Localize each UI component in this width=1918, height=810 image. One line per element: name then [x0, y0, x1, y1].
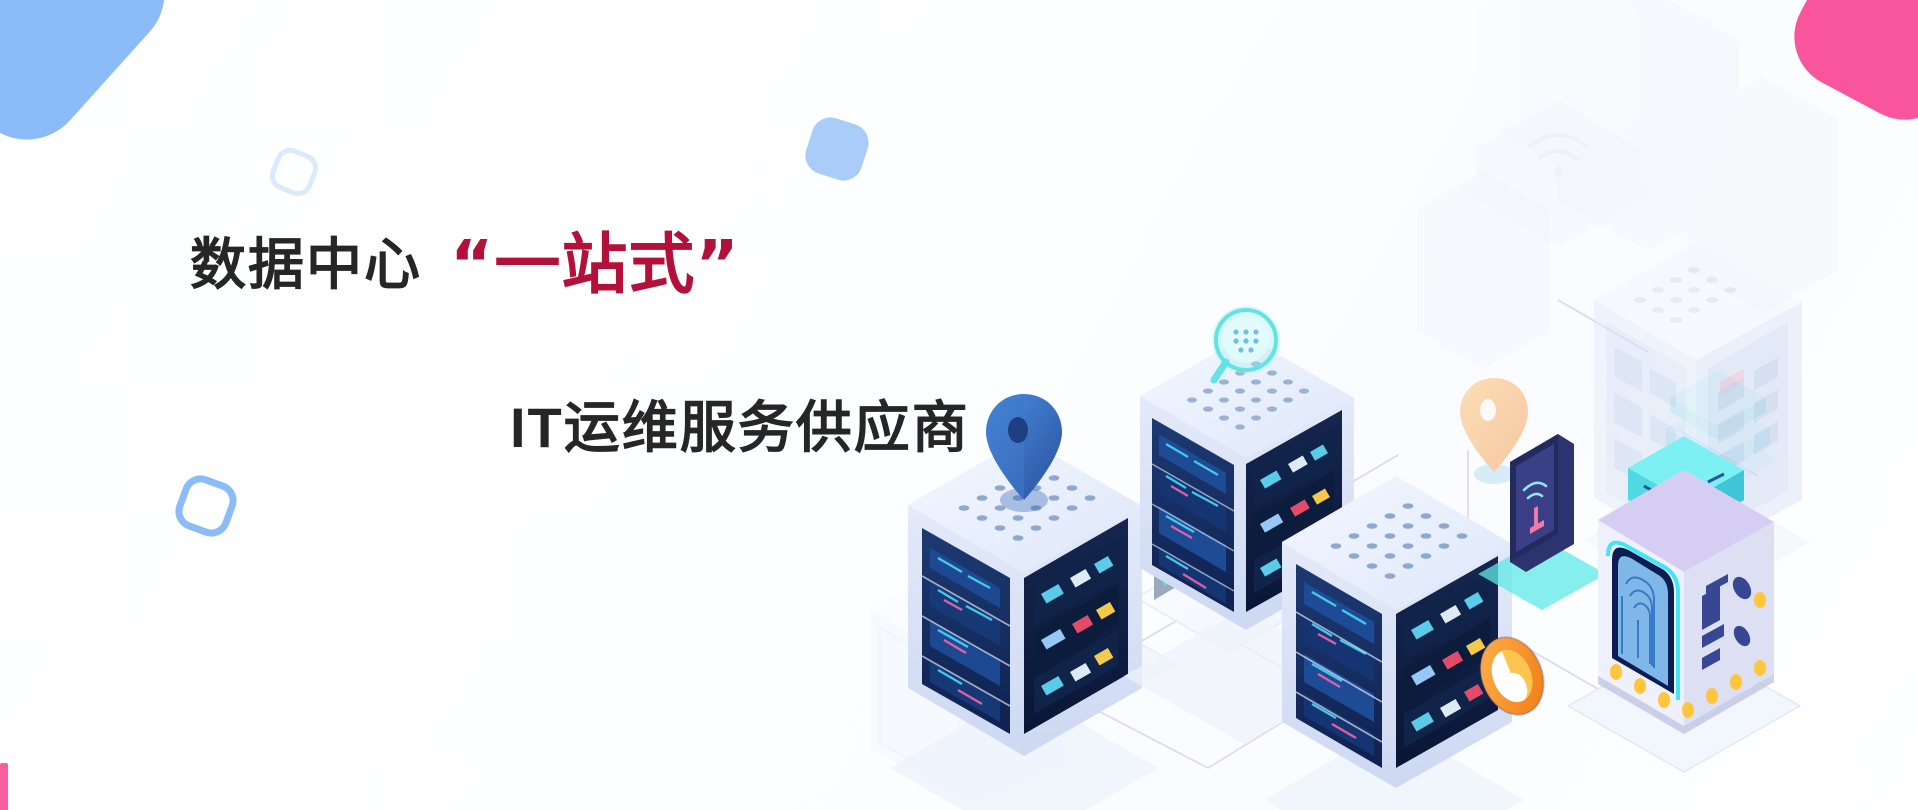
blue-outline-square-small: [265, 143, 322, 200]
headline-line-1: 数据中心“一站式”: [190, 232, 1050, 298]
headline-prefix: 数据中心: [190, 233, 422, 296]
pink-edge-bar: [0, 763, 8, 810]
headline-highlight: “一站式”: [450, 226, 740, 303]
blue-rounded-square-corner: [0, 0, 188, 163]
headline-subline: IT运维服务供应商: [510, 400, 1050, 456]
headline-block: 数据中心“一站式” IT运维服务供应商: [190, 232, 1050, 456]
blue-outline-square: [170, 470, 242, 542]
hero-banner: 数据中心“一站式” IT运维服务供应商: [0, 0, 1918, 810]
